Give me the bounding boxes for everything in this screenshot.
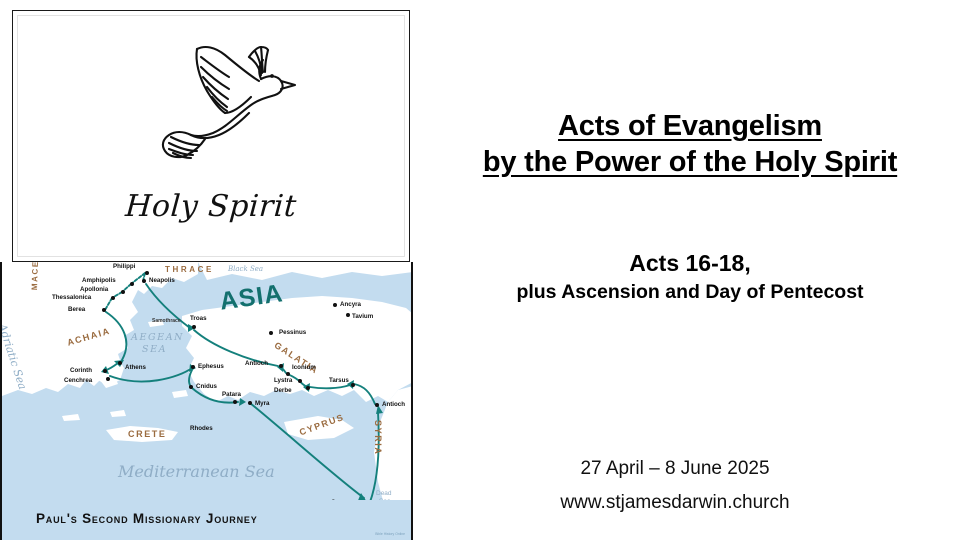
city-label-troas: Troas [190,316,207,322]
slide-footer: 27 April – 8 June 2025 www.stjamesdarwin… [430,452,920,520]
city-label-thessalonica: Thessalonica [52,295,91,301]
city-label-pessinus: Pessinus [279,330,306,336]
region-label-crete: CRETE [128,429,167,439]
map-caption-text: Paul's Second Missionary Journey [36,511,258,526]
island-label-samothrace: Samothrace [152,318,181,324]
city-dot-myra [248,401,252,405]
city-dot-antioch-syria [375,403,379,407]
city-label-apollonia: Apollonia [80,287,108,293]
city-label-lystra: Lystra [274,378,292,384]
map-credit-text: Bible History Online [375,532,405,536]
city-label-rhodes: Rhodes [190,426,213,432]
sea-label-aegean-sea-2: SEA [142,344,167,355]
city-label-iconium: Iconium [292,365,316,371]
city-dot-ephesus [191,365,195,369]
slide-title: Acts of Evangelism by the Power of the H… [430,108,950,180]
city-dot-athens [118,361,122,365]
city-dot-antioch-pisidia [279,364,283,368]
holy-spirit-image-panel: Holy Spirit [12,10,410,262]
city-label-berea: Berea [68,307,85,313]
presentation-slide: Holy Spirit [0,0,960,540]
city-label-ephesus: Ephesus [198,364,224,370]
city-label-derbe: Derbe [274,388,292,394]
city-label-cenchrea: Cenchrea [64,378,92,384]
city-label-tarsus: Tarsus [329,378,349,384]
city-label-philippi: Philippi [113,264,135,270]
city-label-amphipolis: Amphipolis [82,278,116,284]
city-label-corinth: Corinth [70,368,92,374]
city-dot-neapolis [142,279,146,283]
city-dot-cenchrea [106,377,110,381]
region-label-syria: SYRIA [373,420,383,456]
city-label-neapolis: Neapolis [149,278,175,284]
subtitle-line-2: plus Ascension and Day of Pentecost [430,278,950,306]
city-dot-tavium [346,313,350,317]
city-dot-derbe [306,386,310,390]
city-label-antioch-syria: Antioch [382,402,405,408]
city-label-antioch-pisidia: Antioch [245,361,268,367]
city-dot-amphipolis [130,282,134,286]
sea-label-dead-sea-1: Dead [376,490,392,497]
city-dot-cnidus [189,385,193,389]
sea-label-mediterranean-sea: Mediterranean Sea [118,462,275,481]
city-dot-tarsus [351,383,355,387]
city-label-myra: Myra [255,401,269,407]
city-dot-patara [233,400,237,404]
city-label-patara: Patara [222,392,241,398]
city-dot-ancyra [333,303,337,307]
city-label-ancyra: Ancyra [340,302,361,308]
city-dot-apollonia [121,290,125,294]
footer-website[interactable]: www.stjamesdarwin.church [430,486,920,520]
city-label-athens: Athens [125,365,146,371]
city-dot-pessinus [269,331,273,335]
title-line-1: Acts of Evangelism [430,108,950,144]
city-dot-iconium [286,372,290,376]
region-label-thrace: THRACE [165,265,214,274]
city-label-cnidus: Cnidus [196,384,217,390]
city-dot-corinth [103,369,107,373]
city-dot-thessalonica [111,296,115,300]
city-dot-lystra [298,379,302,383]
dove-caption-text: Holy Spirit [12,189,410,224]
sea-label-black-sea: Black Sea [228,265,263,273]
city-dot-philippi [145,271,149,275]
subtitle-line-1: Acts 16-18, [430,248,950,278]
title-line-2: by the Power of the Holy Spirit [430,144,950,180]
city-dot-berea [102,308,106,312]
slide-subtitle: Acts 16-18, plus Ascension and Day of Pe… [430,248,950,306]
city-label-tavium: Tavium [352,314,373,320]
pauls-journey-map: Black Sea Adriatic Sea AEGEAN SEA Medite… [0,262,413,540]
footer-dates: 27 April – 8 June 2025 [430,452,920,486]
city-dot-troas [192,325,196,329]
sea-label-aegean: AEGEAN [131,332,184,343]
dove-icon [109,27,324,202]
